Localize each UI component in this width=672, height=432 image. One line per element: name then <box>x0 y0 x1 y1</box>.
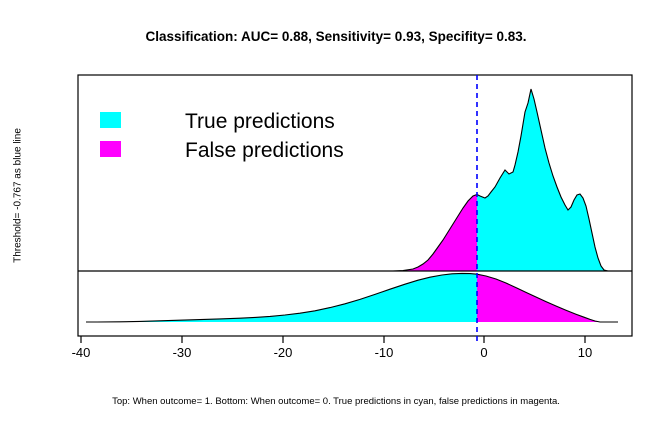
legend-swatch-true-predictions <box>100 112 121 128</box>
outcome-1-curve-fill-true <box>393 89 632 271</box>
x-tick-label-0: -40 <box>72 345 91 360</box>
legend-swatch-false-predictions <box>100 141 121 157</box>
figure-caption: Top: When outcome= 1. Bottom: When outco… <box>0 396 672 407</box>
x-tick-label-5: 10 <box>578 345 592 360</box>
x-tick-label-3: -10 <box>375 345 394 360</box>
legend-label-true-predictions: True predictions <box>185 111 335 132</box>
x-tick-label-4: 0 <box>480 345 487 360</box>
x-axis-ticks <box>81 336 585 343</box>
x-tick-label-1: -30 <box>173 345 192 360</box>
density-plot-figure: Classification: AUC= 0.88, Sensitivity= … <box>0 0 672 432</box>
outcome-0-density-area <box>86 273 632 322</box>
x-tick-label-2: -20 <box>274 345 293 360</box>
plot-canvas <box>0 0 672 432</box>
outcome-1-density-area <box>393 89 632 271</box>
legend-label-false-predictions: False predictions <box>185 140 344 161</box>
